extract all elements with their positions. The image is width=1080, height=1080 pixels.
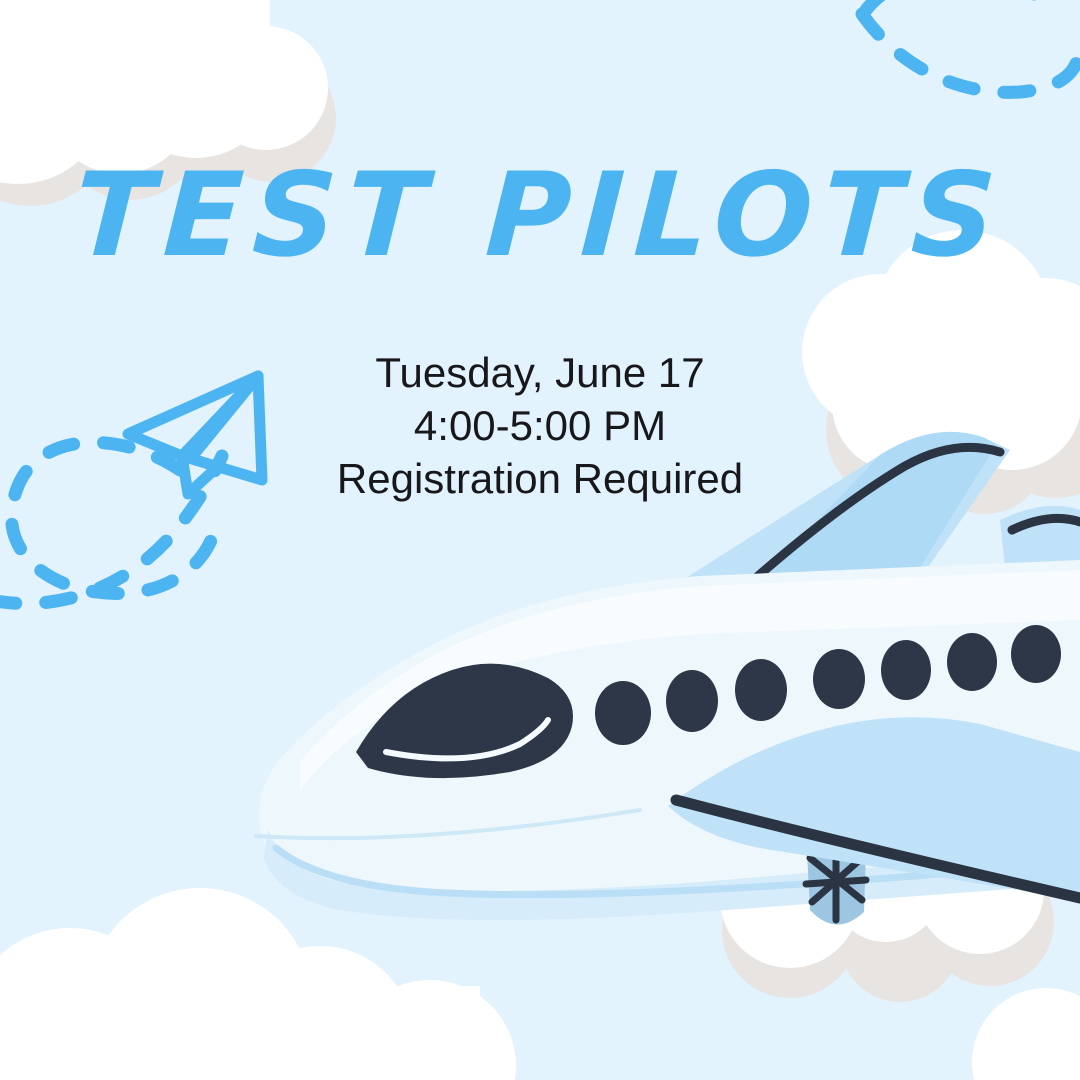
airplane-window <box>666 670 718 732</box>
airplane-window <box>595 681 651 745</box>
poster-canvas: TEST PILOTS Tuesday, June 17 4:00-5:00 P… <box>0 0 1080 1080</box>
cloud-top-left <box>0 0 336 206</box>
airplane-window <box>735 659 787 721</box>
airplane-window <box>881 640 931 700</box>
airplane-window <box>813 649 865 709</box>
airplane-window <box>1011 625 1061 683</box>
airplane-window <box>947 633 997 691</box>
poster-artwork <box>0 0 1080 1080</box>
